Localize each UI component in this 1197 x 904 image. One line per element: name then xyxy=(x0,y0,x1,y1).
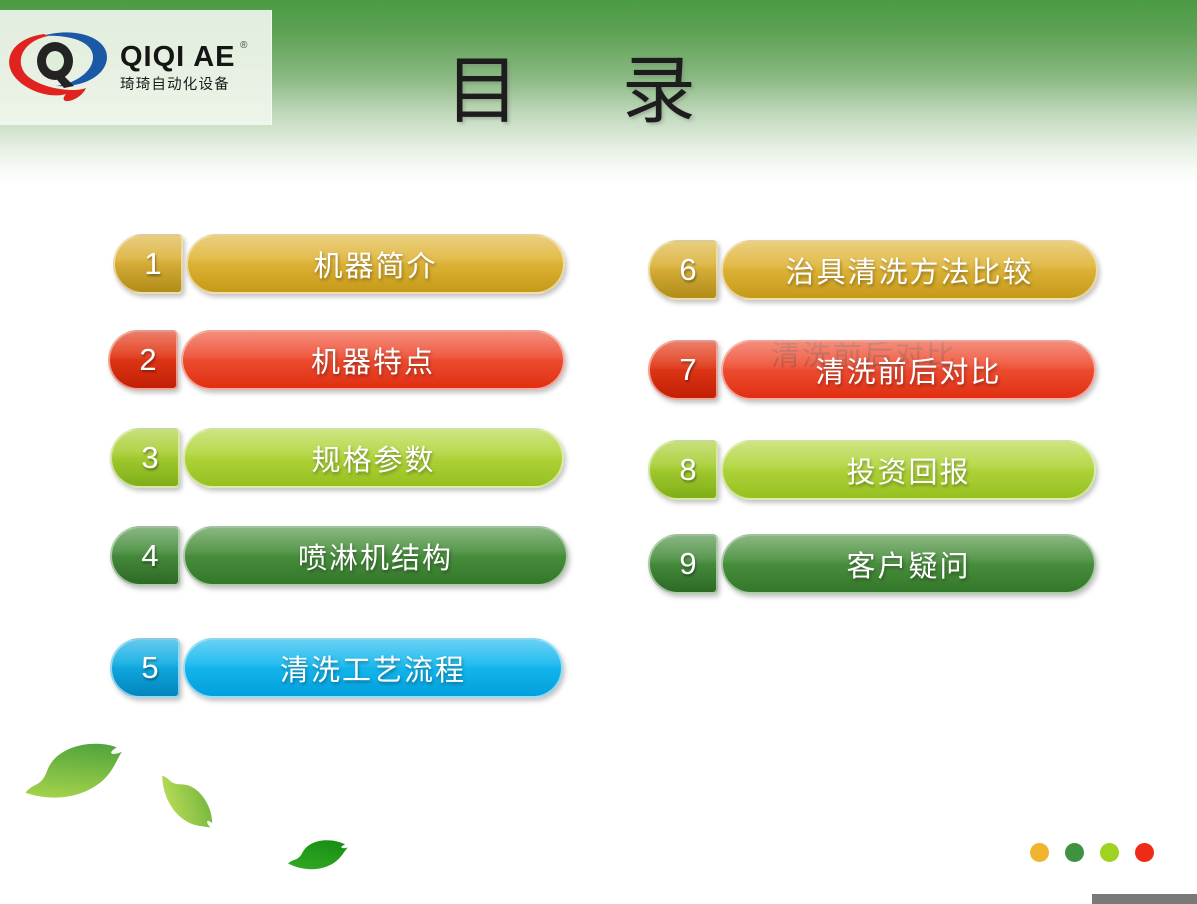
toc-number-label: 4 xyxy=(131,538,158,574)
toc-item-6[interactable]: 6治具清洗方法比较 xyxy=(648,240,1098,300)
toc-label-bar-2[interactable]: 机器特点 xyxy=(181,330,565,390)
toc-item-9[interactable]: 9客户疑问 xyxy=(648,534,1096,594)
toc-label-text: 机器特点 xyxy=(311,339,435,381)
toc-number-badge-6[interactable]: 6 xyxy=(648,240,718,300)
bottom-scroll-bar[interactable] xyxy=(1092,894,1197,904)
toc-number-badge-9[interactable]: 9 xyxy=(648,534,718,594)
toc-item-8[interactable]: 8投资回报 xyxy=(648,440,1096,500)
toc-number-label: 9 xyxy=(669,546,696,582)
toc-label-bar-1[interactable]: 机器简介 xyxy=(186,234,565,294)
toc-number-badge-1[interactable]: 1 xyxy=(113,234,183,294)
toc-number-badge-4[interactable]: 4 xyxy=(110,526,180,586)
toc-number-label: 1 xyxy=(134,246,161,282)
toc-label-text: 治具清洗方法比较 xyxy=(785,249,1033,291)
toc-label-text: 清洗工艺流程 xyxy=(280,647,466,689)
leaf-medium-icon xyxy=(136,751,236,853)
page-title: 目 录 xyxy=(0,55,1169,129)
toc-number-badge-2[interactable]: 2 xyxy=(108,330,178,390)
toc-label-text: 清洗前后对比 xyxy=(815,349,1001,391)
toc-number-label: 5 xyxy=(131,650,158,686)
toc-item-4[interactable]: 4喷淋机结构 xyxy=(110,526,568,586)
toc-item-1[interactable]: 1机器简介 xyxy=(113,234,565,294)
toc-label-text: 投资回报 xyxy=(846,449,970,491)
toc-number-badge-8[interactable]: 8 xyxy=(648,440,718,500)
slide-canvas: QIQI AE® 琦琦自动化设备 目 录 1机器简介2机器特点3规格参数4喷淋机… xyxy=(0,0,1197,904)
toc-number-label: 8 xyxy=(669,452,696,488)
toc-number-label: 3 xyxy=(131,440,158,476)
toc-label-text: 喷淋机结构 xyxy=(298,535,453,577)
toc-number-label: 2 xyxy=(129,342,156,378)
toc-label-bar-9[interactable]: 客户疑问 xyxy=(721,534,1096,594)
toc-item-3[interactable]: 3规格参数 xyxy=(110,428,564,488)
toc-number-badge-3[interactable]: 3 xyxy=(110,428,180,488)
toc-item-5[interactable]: 5清洗工艺流程 xyxy=(110,638,563,698)
toc-label-text: 客户疑问 xyxy=(846,543,970,585)
registered-trademark-icon: ® xyxy=(240,41,248,51)
decorative-dot-row xyxy=(1030,843,1154,862)
toc-label-text: 机器简介 xyxy=(313,243,437,285)
toc-label-bar-5[interactable]: 清洗工艺流程 xyxy=(183,638,563,698)
leaf-small-icon xyxy=(282,833,353,880)
dot-lime xyxy=(1100,843,1119,862)
toc-item-7[interactable]: 7清洗前后对比清洗前后对比 xyxy=(648,340,1096,400)
toc-label-text: 规格参数 xyxy=(311,437,435,479)
toc-item-2[interactable]: 2机器特点 xyxy=(108,330,565,390)
toc-number-badge-5[interactable]: 5 xyxy=(110,638,180,698)
dot-red xyxy=(1135,843,1154,862)
toc-label-bar-7[interactable]: 清洗前后对比清洗前后对比 xyxy=(721,340,1096,400)
dot-gold xyxy=(1030,843,1049,862)
toc-label-bar-8[interactable]: 投资回报 xyxy=(721,440,1096,500)
toc-number-badge-7[interactable]: 7 xyxy=(648,340,718,400)
toc-number-label: 6 xyxy=(669,252,696,288)
toc-number-label: 7 xyxy=(669,352,696,388)
dot-green xyxy=(1065,843,1084,862)
toc-label-bar-6[interactable]: 治具清洗方法比较 xyxy=(721,240,1098,300)
leaf-large-icon xyxy=(11,726,137,820)
toc-label-bar-4[interactable]: 喷淋机结构 xyxy=(183,526,568,586)
toc-label-bar-3[interactable]: 规格参数 xyxy=(183,428,564,488)
